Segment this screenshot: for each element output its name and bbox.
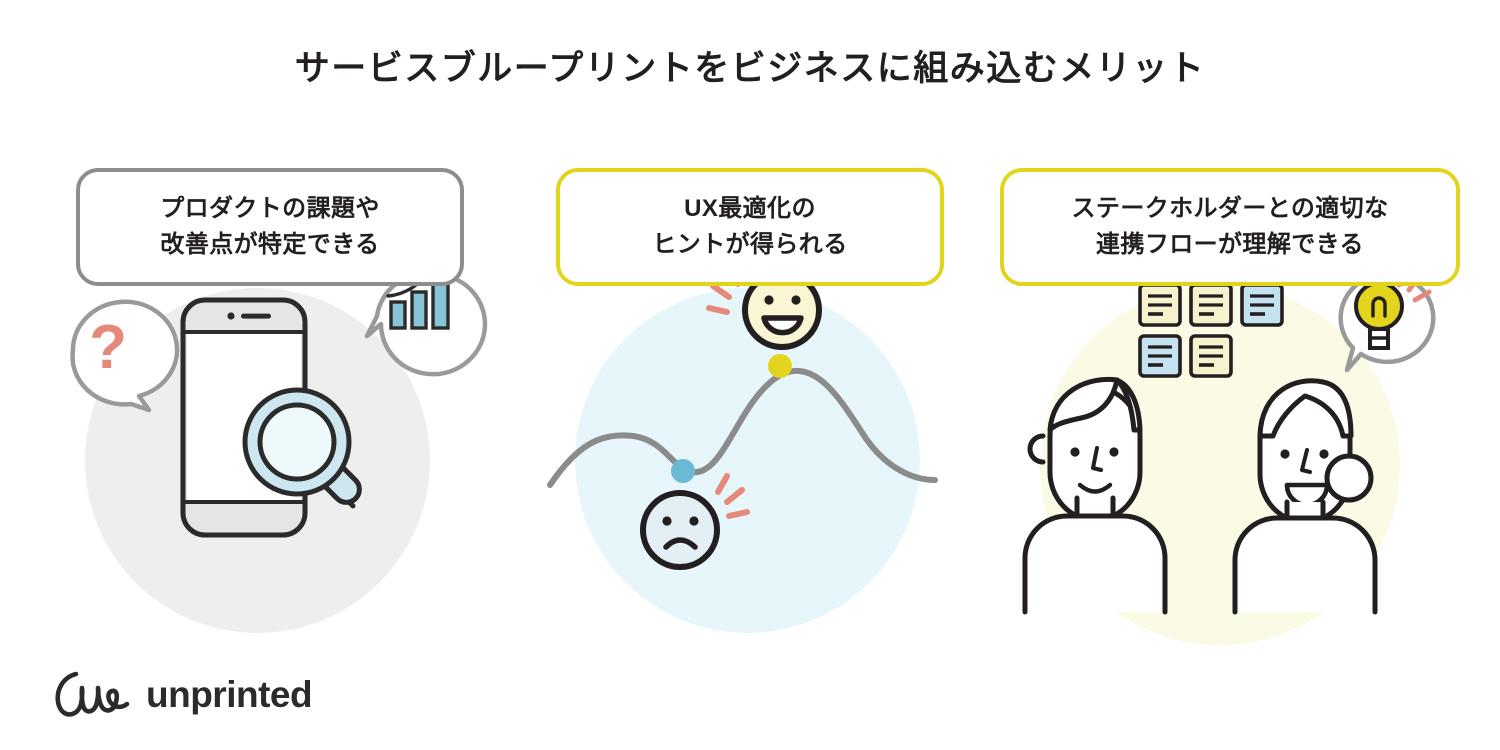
ux-curve-illustration — [515, 240, 985, 640]
question-mark-glyph: ? — [89, 313, 127, 382]
low-point-dot — [671, 459, 695, 483]
benefits-columns: プロダクトの課題や 改善点が特定できる — [0, 160, 1500, 640]
benefit-card-3-text: ステークホルダーとの適切な 連携フローが理解できる — [1072, 191, 1389, 264]
sad-face-icon — [643, 493, 717, 567]
sticky-note — [1140, 285, 1180, 325]
high-point-dot — [768, 354, 792, 378]
question-bubble-icon: ? — [73, 302, 177, 410]
illustration-3-artwork — [995, 240, 1465, 640]
product-discovery-illustration: ? — [35, 240, 505, 640]
sad-emphasis-rays — [718, 476, 747, 516]
sticky-notes-group — [1140, 285, 1282, 376]
benefit-card-2: UX最適化の ヒントが得られる — [556, 168, 944, 286]
sticky-note — [1242, 285, 1282, 325]
benefit-column-3: ステークホルダーとの適切な 連携フローが理解できる — [995, 160, 1465, 640]
benefit-card-3: ステークホルダーとの適切な 連携フローが理解できる — [1000, 168, 1460, 286]
unprinted-script-mark-icon — [50, 668, 132, 720]
benefit-card-1: プロダクトの課題や 改善点が特定できる — [76, 168, 464, 286]
benefit-card-1-text: プロダクトの課題や 改善点が特定できる — [160, 191, 380, 264]
stakeholder-collaboration-illustration — [995, 240, 1465, 640]
benefit-column-1: プロダクトの課題や 改善点が特定できる — [35, 160, 505, 640]
person-man-icon — [1025, 379, 1165, 612]
brand-wordmark: unprinted — [146, 676, 312, 713]
person-woman-icon — [1235, 381, 1375, 612]
journey-curve — [550, 371, 935, 485]
page-title: サービスブループリントをビジネスに組み込むメリット — [0, 48, 1500, 90]
benefit-card-2-text: UX最適化の ヒントが得られる — [652, 191, 847, 264]
illustration-1-artwork: ? — [35, 240, 505, 640]
brand-logo: unprinted — [50, 668, 312, 720]
sticky-note — [1191, 336, 1231, 376]
sticky-note — [1191, 285, 1231, 325]
illustration-2-artwork — [515, 240, 985, 640]
sad-face-group — [643, 459, 747, 567]
sticky-note — [1140, 336, 1180, 376]
benefit-column-2: UX最適化の ヒントが得られる — [515, 160, 985, 640]
